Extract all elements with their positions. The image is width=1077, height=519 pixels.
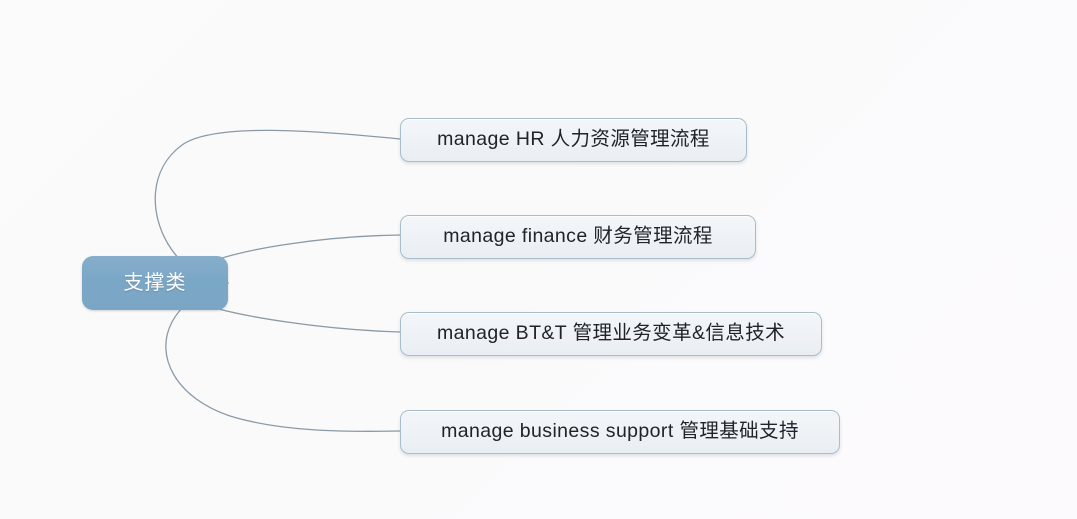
- root-node-label: 支撑类: [124, 273, 187, 293]
- child-node-manage-business-support[interactable]: manage business support 管理基础支持: [400, 410, 840, 454]
- child-node-label: manage BT&T 管理业务变革&信息技术: [437, 324, 785, 344]
- root-node-支撑类[interactable]: 支撑类: [82, 256, 228, 310]
- child-node-manage-bt-and-t[interactable]: manage BT&T 管理业务变革&信息技术: [400, 312, 822, 356]
- child-node-label: manage business support 管理基础支持: [441, 422, 799, 442]
- mindmap-canvas: 支撑类 manage HR 人力资源管理流程 manage finance 财务…: [0, 0, 1077, 519]
- child-node-manage-finance[interactable]: manage finance 财务管理流程: [400, 215, 756, 259]
- child-node-label: manage finance 财务管理流程: [443, 227, 713, 247]
- child-node-label: manage HR 人力资源管理流程: [437, 130, 710, 150]
- child-node-manage-hr[interactable]: manage HR 人力资源管理流程: [400, 118, 747, 162]
